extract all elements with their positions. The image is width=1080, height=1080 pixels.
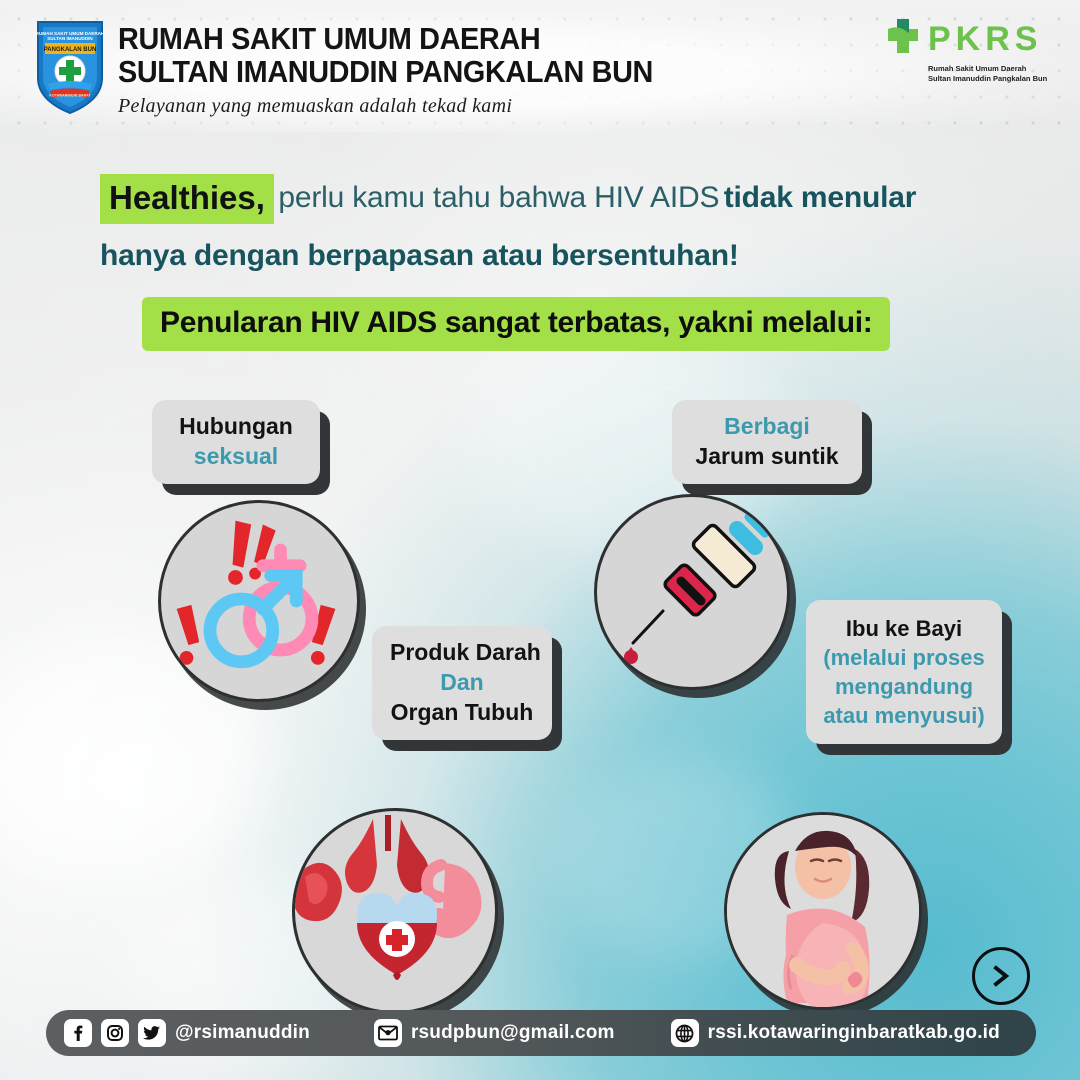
gender-symbols-icon	[158, 500, 360, 702]
hospital-crest-icon: RUMAH SAKIT UMUM DAERAH SULTAN IMANUDDIN…	[32, 18, 108, 116]
page-header: RUMAH SAKIT UMUM DAERAH SULTAN IMANUDDIN…	[0, 0, 1080, 132]
footer-contact-bar: @rsimanuddin rsudpbun@gmail.com	[46, 1010, 1036, 1056]
card-needle-line-1: Jarum suntik	[690, 442, 844, 472]
card-mother-line-1: (melalui proses	[820, 643, 988, 672]
pkrs-sub-line1: Rumah Sakit Umum Daerah	[928, 64, 1052, 74]
lede-line2: hanya dengan berpapasan atau bersentuhan…	[100, 239, 739, 272]
transmission-banner-text: Penularan HIV AIDS sangat terbatas, yakn…	[160, 306, 872, 340]
syringe-icon	[594, 494, 790, 690]
card-mother-line-3: atau menyusui)	[820, 701, 988, 730]
card-mother-line-0: Ibu ke Bayi	[820, 614, 988, 643]
pregnant-woman-icon	[724, 812, 922, 1010]
hospital-title-line1: RUMAH SAKIT UMUM DAERAH	[118, 22, 653, 55]
card-mother-to-child[interactable]: Ibu ke Bayi (melalui proses mengandung a…	[806, 600, 1002, 744]
instagram-icon[interactable]	[101, 1019, 129, 1047]
svg-text:KOTAWARINGIN BARAT: KOTAWARINGIN BARAT	[49, 94, 91, 98]
chevron-right-icon	[990, 964, 1012, 988]
hospital-name-block: RUMAH SAKIT UMUM DAERAH SULTAN IMANUDDIN…	[118, 22, 693, 118]
transmission-banner: Penularan HIV AIDS sangat terbatas, yakn…	[142, 297, 890, 351]
card-needle[interactable]: Berbagi Jarum suntik	[672, 400, 862, 484]
lede-light-text: perlu kamu tahu bahwa HIV AIDS	[278, 181, 719, 214]
lede-bold-text: tidak menular	[724, 181, 916, 214]
social-group: @rsimanuddin	[64, 1019, 310, 1047]
hospital-tagline: Pelayanan yang memuaskan adalah tekad ka…	[118, 95, 693, 118]
website-url: rssi.kotawaringinbaratkab.go.id	[708, 1022, 1000, 1044]
email-group: rsudpbun@gmail.com	[374, 1019, 615, 1047]
card-sexual-line-1: seksual	[170, 442, 302, 472]
infographic-poster: RUMAH SAKIT UMUM DAERAH SULTAN IMANUDDIN…	[0, 0, 1080, 1080]
website-group: rssi.kotawaringinbaratkab.go.id	[671, 1019, 1000, 1047]
card-needle-line-0: Berbagi	[690, 412, 844, 442]
card-mother-line-2: mengandung	[820, 672, 988, 701]
pkrs-sub-line2: Sultan Imanuddin Pangkalan Bun	[928, 74, 1052, 84]
svg-text:PANGKALAN BUN: PANGKALAN BUN	[44, 47, 97, 53]
next-slide-button[interactable]	[972, 947, 1030, 1005]
card-blood-line-2: Organ Tubuh	[390, 698, 534, 728]
mail-icon[interactable]	[374, 1019, 402, 1047]
pkrs-cross-icon	[884, 16, 922, 61]
pkrs-logo: PKRS Rumah Sakit Umum Daerah Sultan Iman…	[884, 16, 1052, 84]
social-handle: @rsimanuddin	[175, 1022, 310, 1044]
email-address: rsudpbun@gmail.com	[411, 1022, 615, 1044]
card-blood-line-1: Dan	[390, 668, 534, 698]
card-sexual-line-0: Hubungan	[170, 412, 302, 442]
card-sexual[interactable]: Hubungan seksual	[152, 400, 320, 484]
organs-blood-donation-icon	[292, 808, 498, 1014]
card-blood[interactable]: Produk Darah Dan Organ Tubuh	[372, 626, 552, 740]
globe-icon[interactable]	[671, 1019, 699, 1047]
twitter-icon[interactable]	[138, 1019, 166, 1047]
card-blood-line-0: Produk Darah	[390, 638, 534, 668]
svg-text:SULTAN IMANUDDIN: SULTAN IMANUDDIN	[47, 36, 93, 41]
hospital-title-line2: SULTAN IMANUDDIN PANGKALAN BUN	[118, 55, 653, 88]
lede-paragraph: Healthies, perlu kamu tahu bahwa HIV AID…	[100, 172, 1000, 275]
pkrs-wordmark: PKRS	[928, 22, 1042, 56]
facebook-icon[interactable]	[64, 1019, 92, 1047]
healthies-highlight: Healthies,	[100, 174, 274, 224]
